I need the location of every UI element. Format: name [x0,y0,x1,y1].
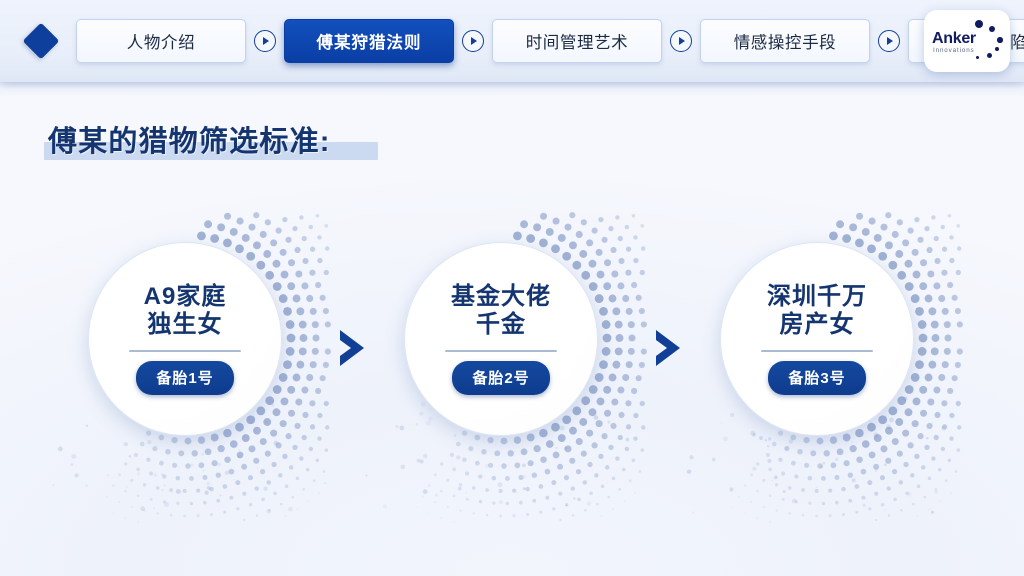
criteria-line2: 千金 [476,311,526,339]
tab-label: 情感操控手段 [734,29,837,53]
diamond-marker-icon [23,23,60,60]
circled-arrow-icon [878,30,900,52]
criteria-disc-1: A9家庭 独生女 备胎1号 [88,242,282,436]
criteria-badge: 备胎3号 [768,361,865,395]
circled-arrow-icon [462,30,484,52]
circled-arrow-icon [254,30,276,52]
criteria-line2: 房产女 [780,311,855,339]
page-title: 傅某的猎物筛选标准: [48,118,331,160]
anker-logo: Anker Innovations [924,10,1010,72]
criteria-badge: 备胎1号 [136,361,233,395]
criteria-node-2[interactable]: 基金大佬 千金 备胎2号 [372,222,636,486]
criteria-divider [761,350,873,352]
criteria-line1: A9家庭 [144,283,227,311]
tab-label: 时间管理艺术 [526,29,629,53]
slide-canvas: 人物介绍 傅某狩猎法则 时间管理艺术 情感操控手段 精英人设陷阱 Anker [0,0,1024,576]
criteria-badge: 备胎2号 [452,361,549,395]
nav-drop-shadow [0,82,1024,98]
tab-label: 人物介绍 [127,29,195,53]
anker-logo-wordmark: Anker [932,30,976,48]
tab-time-management[interactable]: 时间管理艺术 [492,19,662,63]
criteria-node-1[interactable]: A9家庭 独生女 备胎1号 [56,222,320,486]
criteria-node-3[interactable]: 深圳千万 房产女 备胎3号 [688,222,952,486]
chapter-tab-list: 人物介绍 傅某狩猎法则 时间管理艺术 情感操控手段 精英人设陷阱 [76,19,1024,63]
criteria-line1: 深圳千万 [767,283,867,311]
anker-logo-tagline: Innovations [933,47,975,54]
top-navigation-bar: 人物介绍 傅某狩猎法则 时间管理艺术 情感操控手段 精英人设陷阱 Anker [0,0,1024,82]
criteria-divider [129,350,241,352]
page-title-text: 傅某的猎物筛选标准: [48,118,331,160]
criteria-divider [445,350,557,352]
flow-separator-2 [652,326,686,370]
tab-hunting-rules[interactable]: 傅某狩猎法则 [284,19,454,63]
criteria-disc-2: 基金大佬 千金 备胎2号 [404,242,598,436]
tab-people-intro[interactable]: 人物介绍 [76,19,246,63]
criteria-line1: 基金大佬 [451,283,551,311]
criteria-flow: A9家庭 独生女 备胎1号 基金大佬 千金 备胎2号 [0,222,1024,502]
tab-label: 傅某狩猎法则 [317,29,422,53]
tab-emotional-manipulation[interactable]: 情感操控手段 [700,19,870,63]
flow-separator-1 [336,326,370,370]
circled-arrow-icon [670,30,692,52]
criteria-disc-3: 深圳千万 房产女 备胎3号 [720,242,914,436]
criteria-line2: 独生女 [148,311,223,339]
